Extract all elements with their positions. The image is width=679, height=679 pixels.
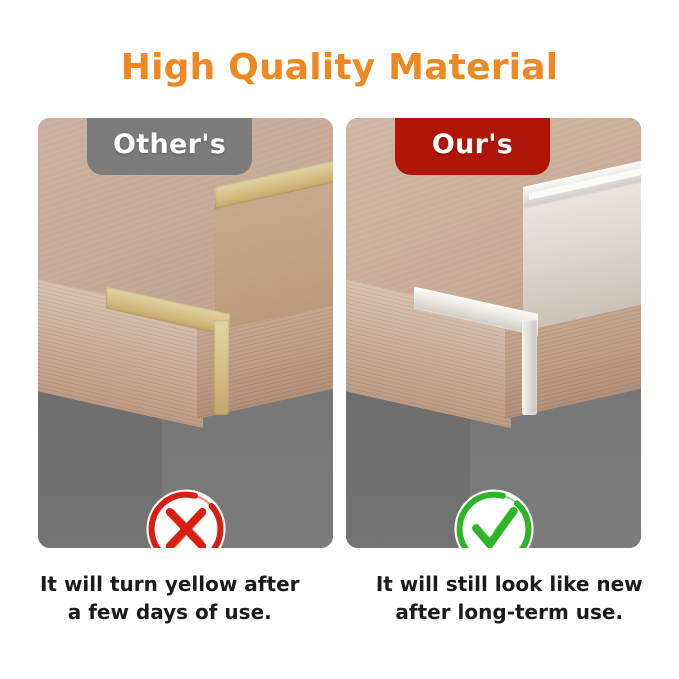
page-title: High Quality Material bbox=[0, 47, 679, 88]
panel-ours: Our's bbox=[346, 118, 641, 548]
edge-guard-corner bbox=[522, 320, 538, 415]
caption-ours-line2: after long-term use. bbox=[354, 598, 666, 626]
caption-ours-line1: It will still look like new bbox=[376, 572, 643, 596]
caption-others-line1: It will turn yellow after bbox=[40, 572, 300, 596]
caption-others: It will turn yellow after a few days of … bbox=[0, 570, 340, 627]
badge-ours: Our's bbox=[395, 118, 550, 175]
product-photo-ours bbox=[346, 118, 641, 548]
caption-ours: It will still look like new after long-t… bbox=[340, 570, 679, 627]
captions-row: It will turn yellow after a few days of … bbox=[0, 570, 679, 627]
cross-icon bbox=[143, 486, 229, 548]
comparison-container: Other's bbox=[38, 118, 641, 548]
check-icon bbox=[451, 486, 537, 548]
product-photo-others bbox=[38, 118, 333, 548]
caption-others-line2: a few days of use. bbox=[14, 598, 326, 626]
badge-others: Other's bbox=[87, 118, 252, 175]
edge-guard-corner bbox=[214, 320, 230, 415]
panel-others: Other's bbox=[38, 118, 333, 548]
